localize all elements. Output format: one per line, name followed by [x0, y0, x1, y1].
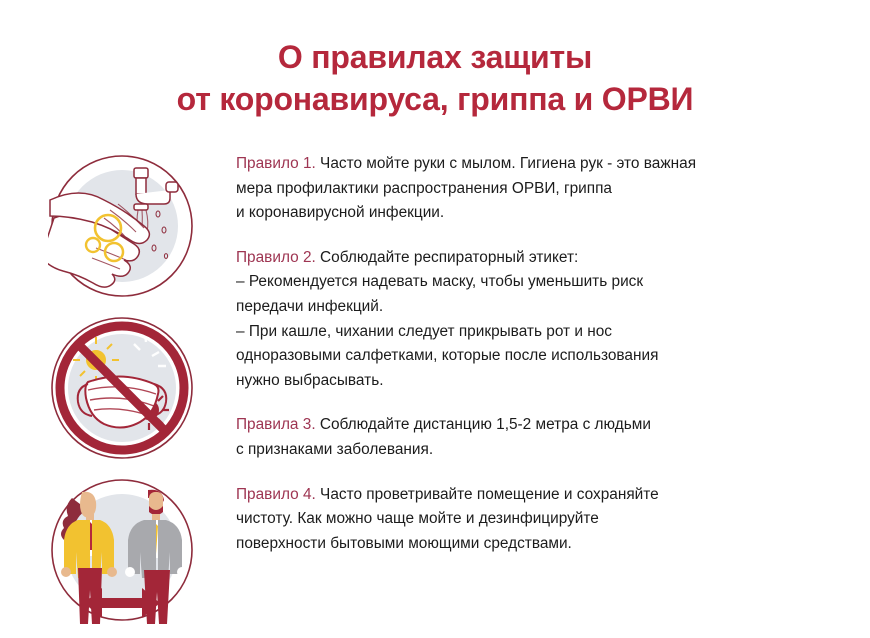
rules-list: Правило 1. Часто мойте руки с мылом. Гиг…: [236, 152, 836, 556]
rule-2-line-6: нужно выбрасывать.: [236, 369, 836, 394]
rule-3-label: Правила 3.: [236, 416, 316, 433]
rule-1-line-3: и коронавирусной инфекции.: [236, 201, 836, 226]
rule-item-4: Правило 4. Часто проветривайте помещение…: [236, 483, 836, 557]
handwashing-illustration: [48, 152, 196, 300]
page-title: О правилах защиты от коронавируса, грипп…: [0, 36, 870, 120]
rule-2-line-5: одноразовыми салфетками, которые после и…: [236, 344, 836, 369]
rule-4-line-1: Правило 4. Часто проветривайте помещение…: [236, 483, 836, 508]
rule-1-text-1: Часто мойте руки с мылом. Гигиена рук - …: [316, 155, 696, 172]
rule-3-line-1: Правила 3. Соблюдайте дистанцию 1,5-2 ме…: [236, 413, 836, 438]
rule-1-line-2: мера профилактики распространения ОРВИ, …: [236, 177, 836, 202]
rule-2-line-2: – Рекомендуется надевать маску, чтобы ум…: [236, 270, 836, 295]
rule-4-text-1: Часто проветривайте помещение и сохраняй…: [316, 486, 659, 503]
social-distancing-illustration: [48, 476, 196, 624]
rule-3-text-1: Соблюдайте дистанцию 1,5-2 метра с людьм…: [316, 416, 651, 433]
rule-4-label: Правило 4.: [236, 486, 316, 503]
rule-item-2: Правило 2. Соблюдайте респираторный этик…: [236, 246, 836, 394]
rule-2-text-1: Соблюдайте респираторный этикет:: [316, 249, 579, 266]
rule-3-line-2: с признаками заболевания.: [236, 438, 836, 463]
mask-prohibition-illustration: [48, 314, 196, 462]
rule-item-1: Правило 1. Часто мойте руки с мылом. Гиг…: [236, 152, 836, 226]
rule-2-line-3: передачи инфекций.: [236, 295, 836, 320]
page-title-line-1: О правилах защиты: [0, 36, 870, 78]
rule-2-line-4: – При кашле, чихании следует прикрывать …: [236, 320, 836, 345]
rule-2-line-1: Правило 2. Соблюдайте респираторный этик…: [236, 246, 836, 271]
rule-item-3: Правила 3. Соблюдайте дистанцию 1,5-2 ме…: [236, 413, 836, 462]
rule-1-label: Правило 1.: [236, 155, 316, 172]
page-title-line-2: от коронавируса, гриппа и ОРВИ: [0, 78, 870, 120]
rule-2-label: Правило 2.: [236, 249, 316, 266]
illustration-column: [48, 152, 208, 638]
rule-1-line-1: Правило 1. Часто мойте руки с мылом. Гиг…: [236, 152, 836, 177]
rule-4-line-3: поверхности бытовыми моющими средствами.: [236, 532, 836, 557]
rule-4-line-2: чистоту. Как можно чаще мойте и дезинфиц…: [236, 507, 836, 532]
